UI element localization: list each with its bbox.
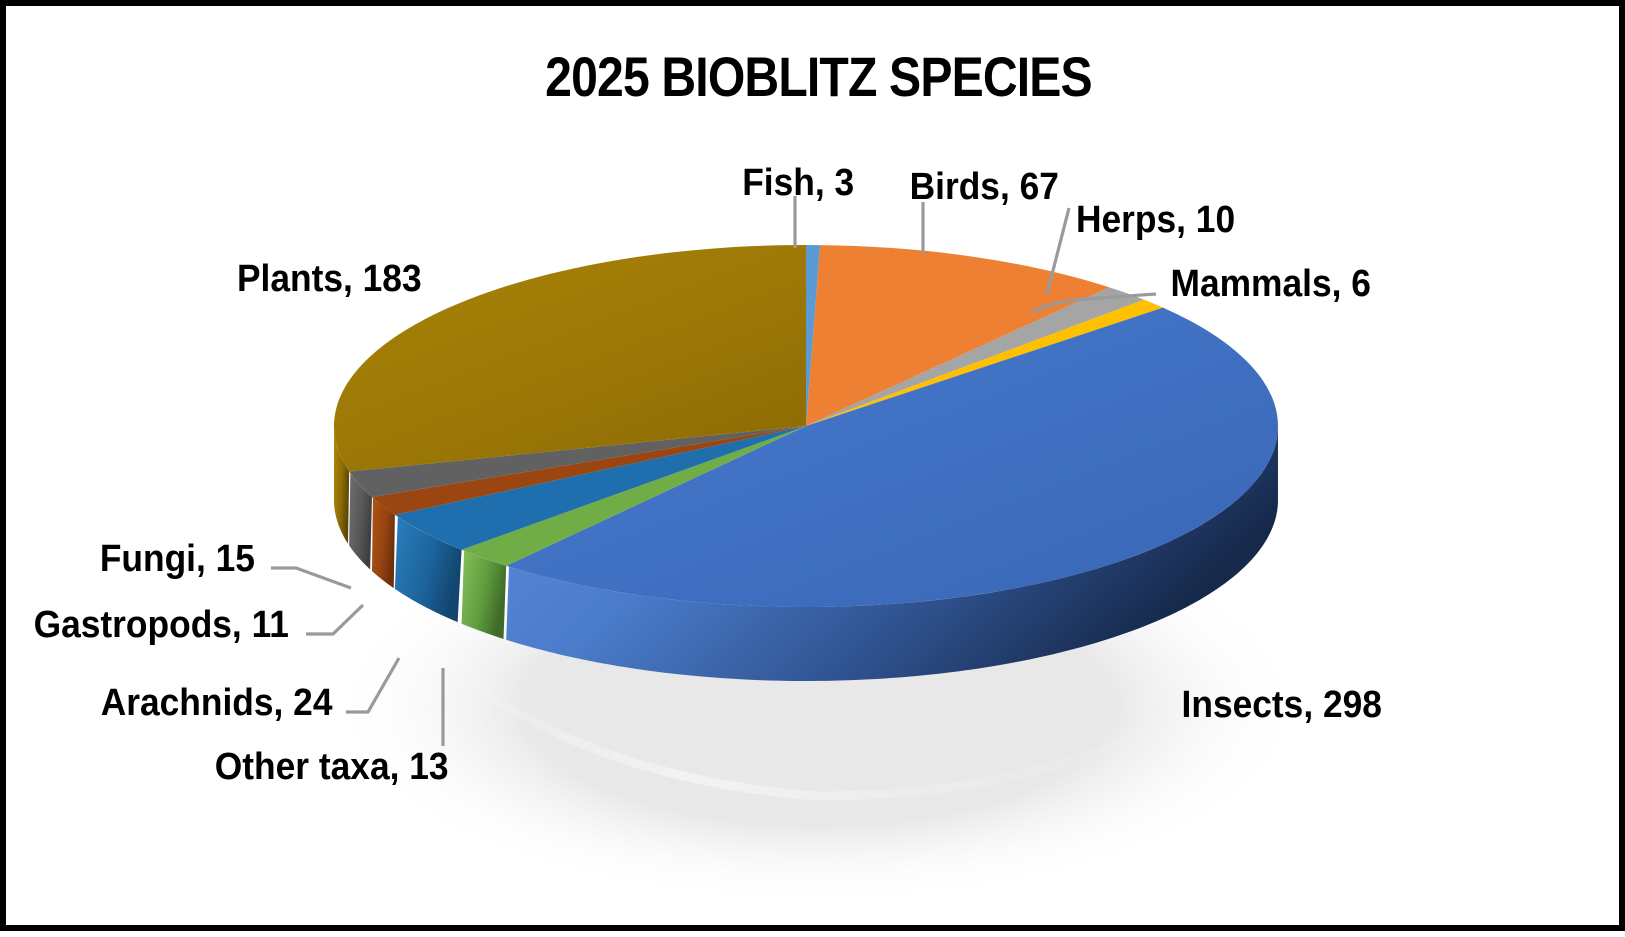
- data-label-insects: Insects, 298: [1182, 684, 1382, 727]
- data-label-plants: Plants, 183: [237, 258, 422, 301]
- pie-chart-graphic: [6, 6, 1625, 937]
- data-label-gastropods: Gastropods, 11: [34, 604, 289, 647]
- data-label-other-taxa: Other taxa, 13: [215, 746, 449, 789]
- leader-line-gastropods: [306, 605, 363, 634]
- data-label-birds: Birds, 67: [910, 166, 1059, 209]
- chart-frame: 2025 BIOBLITZ SPECIES: [0, 0, 1625, 931]
- data-label-fish: Fish, 3: [742, 162, 854, 205]
- leader-line-fungi: [271, 568, 351, 588]
- data-label-arachnids: Arachnids, 24: [101, 682, 333, 725]
- pie-top-surfaces: [334, 245, 1278, 607]
- data-label-herps: Herps, 10: [1076, 199, 1235, 242]
- data-label-fungi: Fungi, 15: [100, 538, 255, 581]
- data-label-mammals: Mammals, 6: [1171, 263, 1371, 306]
